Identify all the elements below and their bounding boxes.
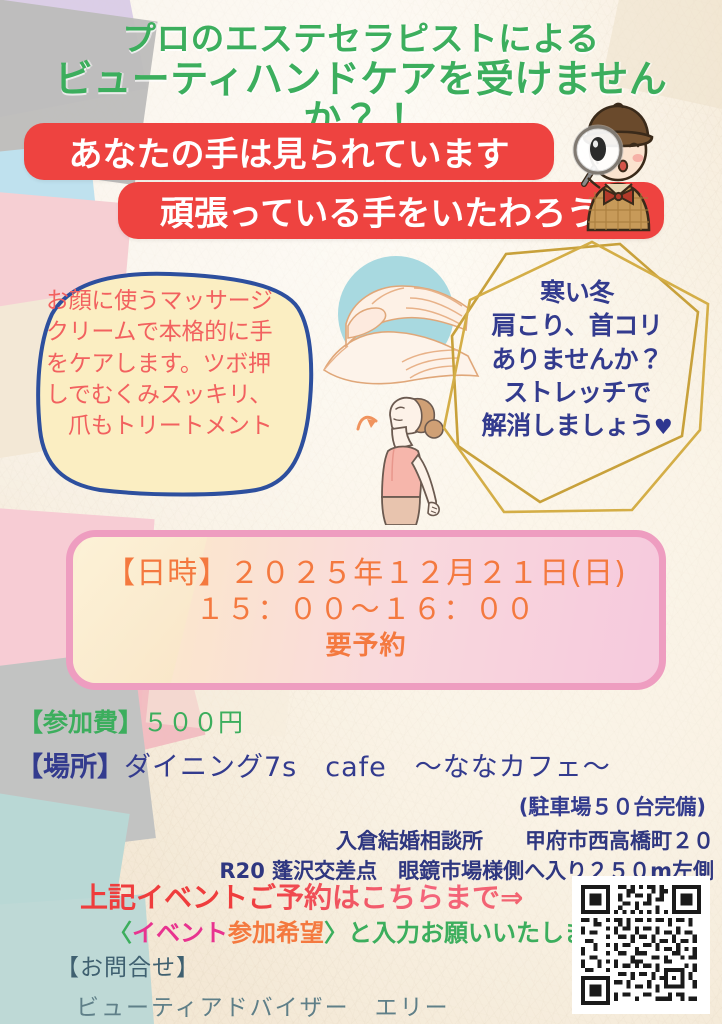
hexagon-line-3: ありませんか？ (432, 343, 722, 376)
hexagon-line-2: 肩こり、首コリ (432, 309, 722, 342)
bubble-line-2: クリームで本格的に手 (46, 317, 308, 348)
bubble-line-3: をケアします。ツボ押 (46, 349, 308, 380)
datetime-time: １５：００〜１６：００ (195, 591, 536, 629)
massage-description-bubble: お顔に使うマッサージ クリームで本格的に手 をケアします。ツボ押 しでむくみスッ… (30, 262, 320, 502)
datetime-date-line: 【日時】２０２５年１２月２１日(日) (105, 556, 626, 591)
address-line-1: 入倉結婚相談所 甲府市西高橋町２０ (336, 825, 714, 855)
reservation-cta-line: 上記イベントご予約はこちらまで⇒ (80, 876, 523, 916)
place-label: 【場所】 (16, 752, 124, 783)
massage-description-text: お顔に使うマッサージ クリームで本格的に手 をケアします。ツボ押 しでむくみスッ… (46, 286, 308, 442)
cta-join-word: 参加希望 (228, 919, 324, 947)
hexagon-line-4: ストレッチで (432, 376, 722, 409)
cta-event-word: イベント (132, 919, 228, 947)
parking-note: (駐車場５０台完備) (519, 791, 706, 821)
stretch-message-hexagons: 寒い冬 肩こり、首コリ ありませんか？ ストレッチで 解消しましょう♥ (432, 240, 722, 530)
event-datetime-box: 【日時】２０２５年１２月２１日(日) １５：００〜１６：００ 要予約 (66, 530, 666, 690)
hexagon-line-5-text: 解消しましょう (482, 411, 654, 440)
hexagon-line-1: 寒い冬 (432, 276, 722, 309)
datetime-date: ２０２５年１２月２１日(日) (229, 556, 626, 591)
bracket-open: 〈 (108, 919, 132, 947)
datetime-reservation-note: 要予約 (325, 629, 406, 664)
datetime-label: 【日時】 (105, 556, 229, 591)
fee-value: ５００円 (143, 708, 243, 737)
fee-label: 【参加費】 (18, 708, 143, 737)
bubble-line-1: お顔に使うマッサージ (46, 286, 308, 317)
flyer-page: プロのエステセラピストによる ビューティハンドケアを受けませんか？！ (0, 0, 722, 1024)
place-value: ダイニング7s cafe 〜ななカフェ〜 (124, 752, 611, 783)
contact-block: 【お問合せ】 ビューティアドバイザー エリー (56, 948, 450, 1022)
detective-icon (548, 92, 688, 232)
bubble-line-5: 爪もトリートメント (46, 411, 308, 442)
contact-person: ビューティアドバイザー エリー (56, 988, 450, 1022)
bracket-close: 〉 (324, 919, 348, 947)
place-line: 【場所】ダイニング7s cafe 〜ななカフェ〜 (16, 745, 611, 784)
headline-line-1: プロのエステセラピストによる (0, 22, 722, 57)
hexagon-line-5: 解消しましょう♥ (432, 409, 722, 442)
fee-line: 【参加費】５００円 (18, 703, 243, 739)
heart-icon: ♥ (654, 415, 672, 439)
reservation-instruction-line: 〈イベント参加希望〉と入力お願いいたします。 (108, 913, 634, 948)
contact-label: 【お問合せ】 (56, 948, 450, 982)
qr-code-icon[interactable] (572, 876, 710, 1014)
banner-your-hands: あなたの手は見られています (24, 123, 554, 180)
bubble-line-4: しでむくみスッキリ、 (46, 380, 308, 411)
stretch-message-text: 寒い冬 肩こり、首コリ ありませんか？ ストレッチで 解消しましょう♥ (432, 276, 722, 442)
